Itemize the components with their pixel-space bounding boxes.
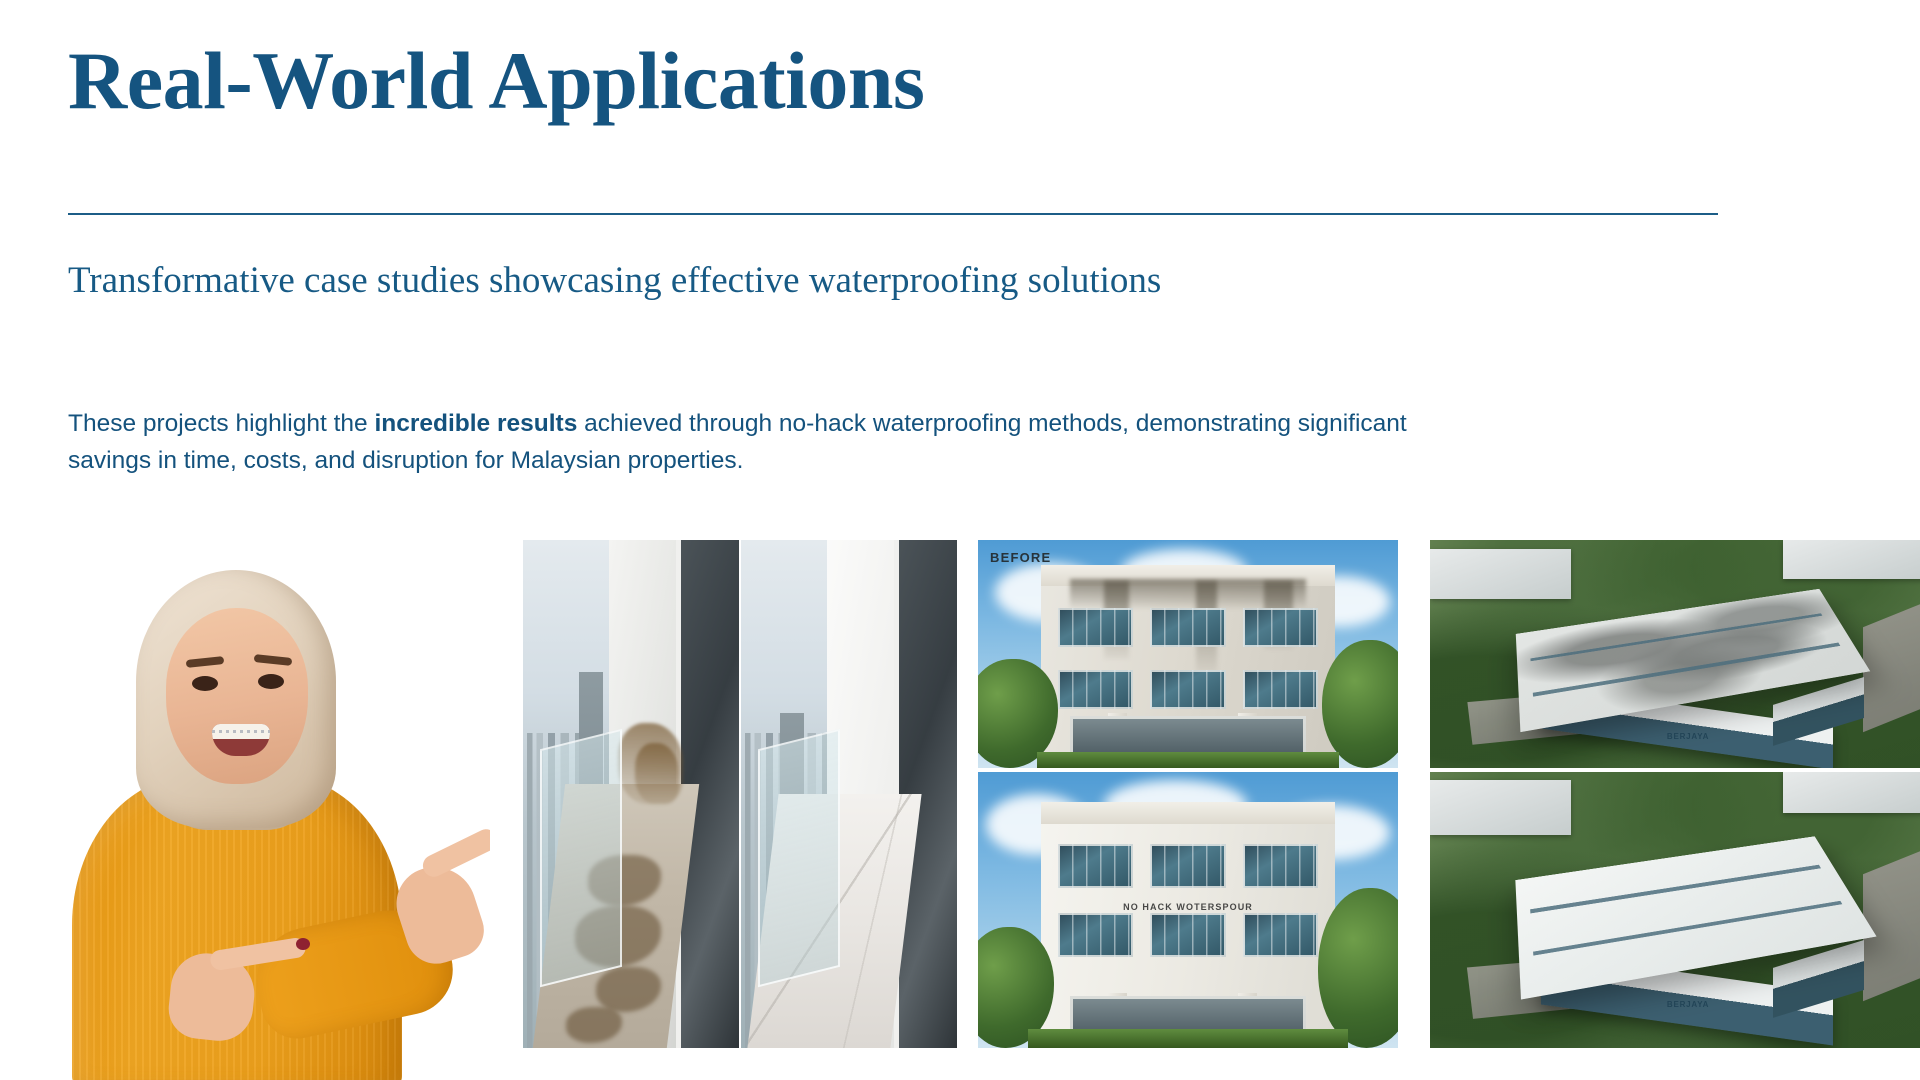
balcony-before-wall-stain-2	[635, 743, 678, 804]
building-before-window-5	[1150, 670, 1226, 709]
slide-subtitle: Transformative case studies showcasing e…	[68, 255, 1388, 308]
photo-warehouse-before[interactable]: BERJAYA	[1430, 540, 1920, 768]
building-after-window-4	[1058, 913, 1134, 957]
no-hack-watermark: NO HACK WOTERSPOUR	[1123, 902, 1253, 912]
building-before-tree-right	[1322, 640, 1398, 768]
page-title: Real-World Applications	[68, 38, 924, 124]
building-before-window-4	[1058, 670, 1134, 709]
warehouse-after-signage: BERJAYA	[1667, 1000, 1709, 1009]
warehouse-before-signage: BERJAYA	[1667, 732, 1709, 741]
body-lead-text: These projects highlight the	[68, 410, 374, 437]
warehouse-after-road	[1863, 846, 1920, 1001]
building-before-window-3	[1243, 608, 1319, 647]
presenter-face	[166, 608, 308, 784]
building-after-window-5	[1150, 913, 1226, 957]
warehouse-after-neighbour-roof-2	[1783, 772, 1920, 813]
before-label: BEFORE	[990, 550, 1051, 565]
presenter-photo	[20, 536, 490, 1080]
warehouse-after-roof-ridge-1	[1530, 865, 1821, 913]
presenter-left-nail	[296, 938, 310, 950]
building-before-hedge	[1037, 752, 1339, 768]
building-after-window-1	[1058, 844, 1134, 888]
slide-body-paragraph: These projects highlight the incredible …	[68, 405, 1428, 479]
title-divider	[68, 213, 1718, 215]
photo-building-after[interactable]: NO HACK WOTERSPOUR	[978, 772, 1398, 1048]
building-after-parapet	[1041, 802, 1335, 824]
building-after-window-3	[1243, 844, 1319, 888]
warehouse-after-roof-ridge-2	[1533, 901, 1842, 956]
building-after-hedge	[1028, 1029, 1347, 1048]
image-gallery: BEFORE NO HACK WOTERSPOUR	[0, 536, 1920, 1080]
photo-building-before[interactable]: BEFORE	[978, 540, 1398, 768]
building-after-window-6	[1243, 913, 1319, 957]
warehouse-before-neighbour-roof-2	[1783, 540, 1920, 579]
warehouse-before-neighbour-roof-1	[1430, 549, 1571, 599]
balcony-before-glass-railing	[540, 729, 622, 987]
presenter-teeth	[212, 724, 270, 739]
photo-warehouse-after[interactable]: BERJAYA	[1430, 772, 1920, 1048]
balcony-after-glass-railing	[758, 729, 840, 987]
body-emphasis-text: incredible results	[374, 410, 577, 437]
presenter-eye-right	[258, 674, 284, 689]
warehouse-after-neighbour-roof-1	[1430, 780, 1571, 835]
building-before-window-1	[1058, 608, 1134, 647]
building-before-window-6	[1243, 670, 1319, 709]
photo-balcony-after[interactable]	[741, 540, 957, 1048]
building-after-window-2	[1150, 844, 1226, 888]
presenter-eye-left	[192, 676, 218, 691]
photo-balcony-before[interactable]	[523, 540, 739, 1048]
building-before-window-2	[1150, 608, 1226, 647]
